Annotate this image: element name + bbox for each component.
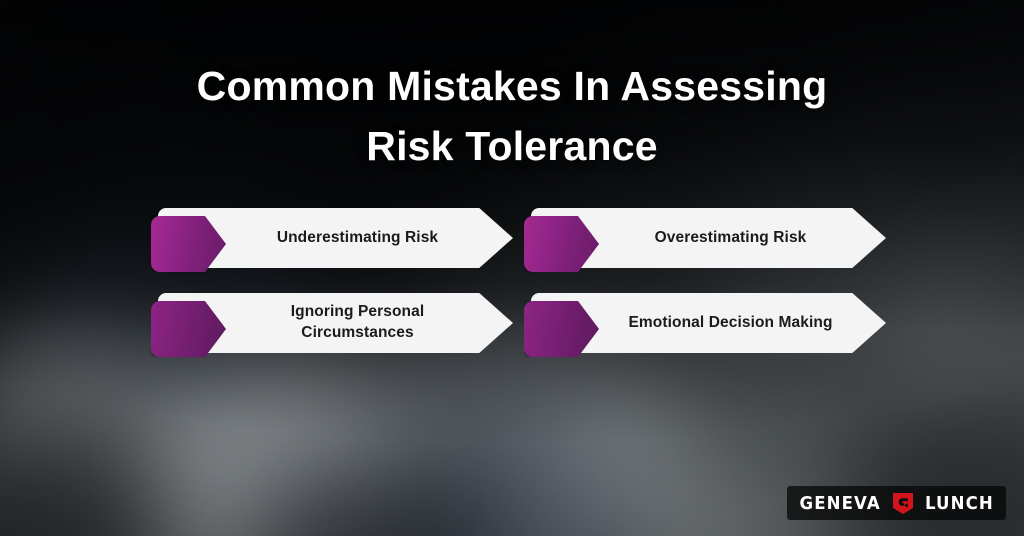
infographic-canvas: Common Mistakes In Assessing Risk Tolera… bbox=[0, 0, 1024, 536]
mistake-card-label: Underestimating Risk bbox=[236, 208, 479, 268]
geneva-g-mark-icon bbox=[891, 491, 915, 515]
site-logo[interactable]: GENEVA LUNCH bbox=[787, 486, 1006, 520]
mistake-card[interactable]: Underestimating Risk bbox=[158, 208, 513, 268]
mistake-card-grid: Underestimating Risk Overestimating Risk… bbox=[158, 208, 886, 378]
logo-word-left: GENEVA bbox=[799, 493, 880, 514]
mistake-card-label: Overestimating Risk bbox=[609, 208, 852, 268]
page-title-line-2: Risk Tolerance bbox=[0, 117, 1024, 176]
mistake-card[interactable]: Overestimating Risk bbox=[531, 208, 886, 268]
mistake-card[interactable]: Ignoring Personal Circumstances bbox=[158, 293, 513, 353]
card-row: Ignoring Personal Circumstances Emotiona… bbox=[158, 293, 886, 353]
page-title: Common Mistakes In Assessing Risk Tolera… bbox=[0, 57, 1024, 176]
card-row: Underestimating Risk Overestimating Risk bbox=[158, 208, 886, 268]
page-title-line-1: Common Mistakes In Assessing bbox=[0, 57, 1024, 116]
mistake-card-label: Emotional Decision Making bbox=[609, 293, 852, 353]
mistake-card[interactable]: Emotional Decision Making bbox=[531, 293, 886, 353]
logo-word-right: LUNCH bbox=[925, 493, 994, 514]
mistake-card-label: Ignoring Personal Circumstances bbox=[236, 293, 479, 353]
